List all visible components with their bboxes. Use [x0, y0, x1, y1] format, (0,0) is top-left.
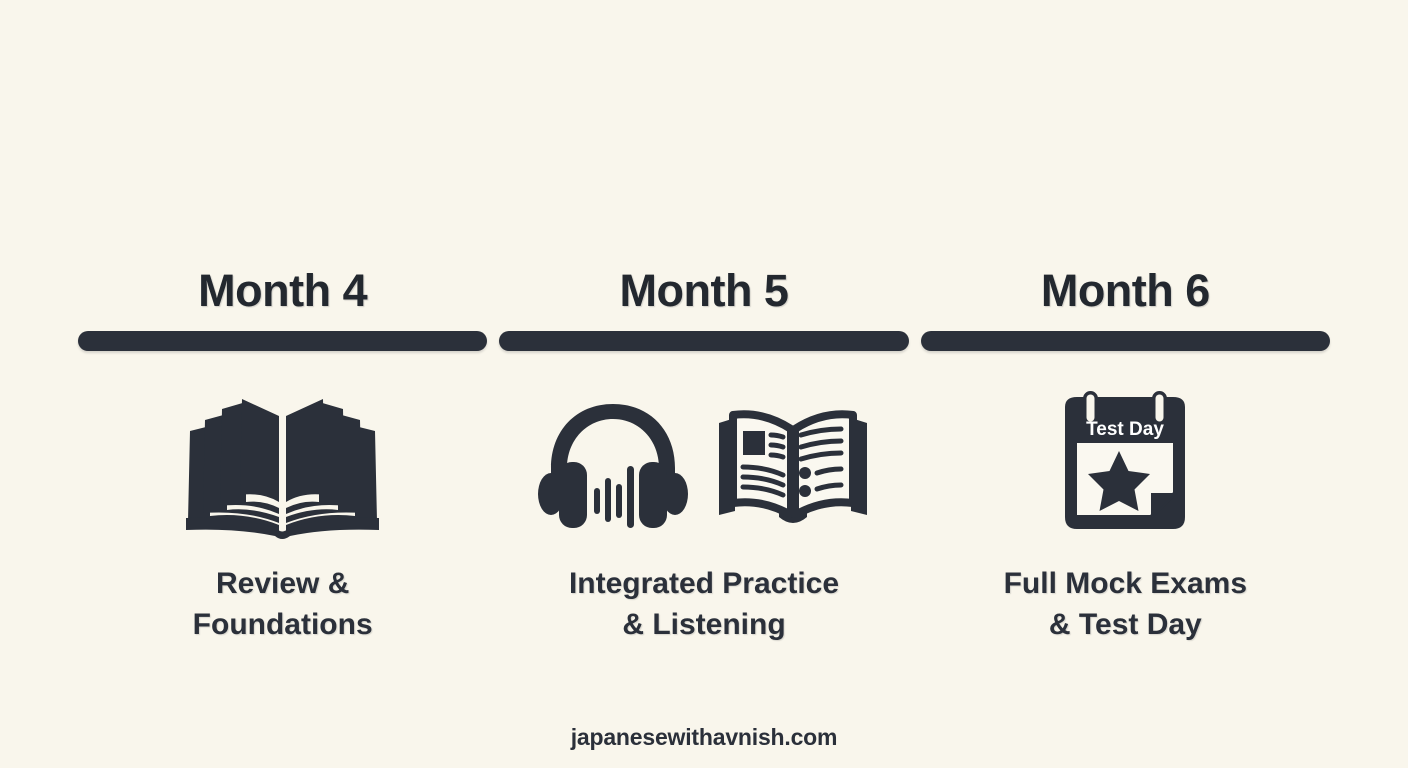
progress-bar-1: [78, 331, 487, 351]
timeline-column-month-6: Month 6: [921, 268, 1330, 646]
icon-row-2: [537, 389, 871, 539]
calendar-test-day-icon: Test Day: [1055, 389, 1195, 539]
column-caption-3: Full Mock Exams & Test Day: [1004, 563, 1247, 646]
open-book-page-icon: [715, 399, 871, 529]
month-heading-3: Month 6: [1041, 268, 1210, 313]
infographic-canvas: Month 4: [0, 0, 1408, 768]
icon-row-3: Test Day: [1055, 389, 1195, 539]
timeline: Month 4: [78, 268, 1330, 646]
icon-row-1: [180, 389, 385, 539]
footer-website: japanesewithavnish.com: [0, 724, 1408, 751]
timeline-column-month-4: Month 4: [78, 268, 487, 646]
progress-bar-3: [921, 331, 1330, 351]
progress-bar-2: [499, 331, 908, 351]
timeline-column-month-5: Month 5: [499, 268, 908, 646]
column-caption-1: Review & Foundations: [193, 563, 373, 646]
calendar-header-text: Test Day: [1086, 419, 1164, 440]
column-caption-2: Integrated Practice & Listening: [569, 563, 839, 646]
headphones-waveform-icon: [537, 398, 689, 530]
open-book-icon: [180, 390, 385, 538]
month-heading-1: Month 4: [198, 268, 367, 313]
month-heading-2: Month 5: [620, 268, 789, 313]
